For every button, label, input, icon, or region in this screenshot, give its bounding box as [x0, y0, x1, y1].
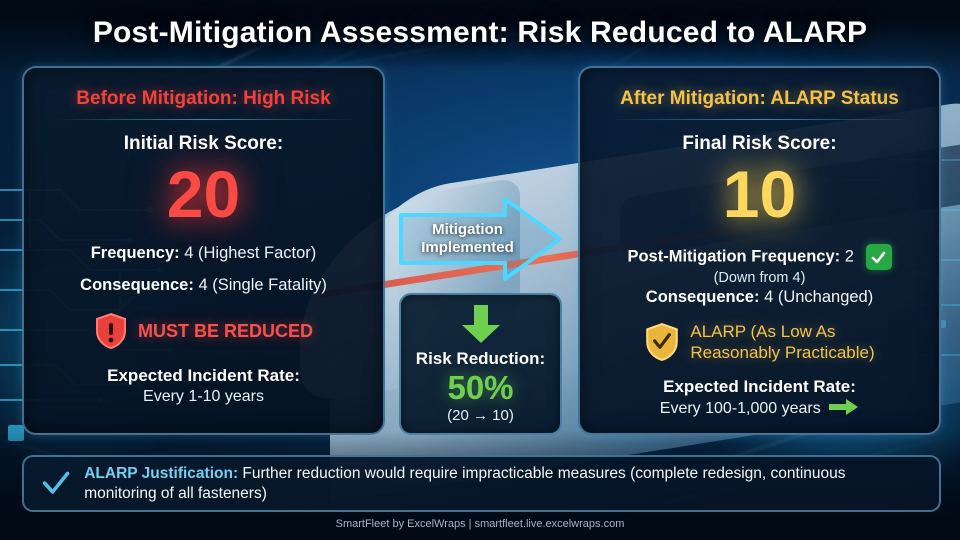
mitigation-arrow: Mitigation Implemented [399, 197, 562, 281]
after-frequency-row: Post-Mitigation Frequency: 2 [594, 244, 925, 270]
before-incident-rate-value: Every 1-10 years [38, 388, 369, 406]
right-arrow-outline-icon [399, 197, 562, 281]
initial-risk-score-label: Initial Risk Score: [38, 133, 369, 155]
after-incident-rate-block: Expected Incident Rate: Every 100-1,000 … [594, 377, 925, 418]
before-frequency-label: Frequency: [91, 244, 180, 262]
after-frequency-label: Post-Mitigation Frequency: [627, 247, 840, 265]
final-risk-score-label: Final Risk Score: [594, 133, 925, 155]
after-incident-rate-value-row: Every 100-1,000 years [594, 399, 925, 418]
alarp-justification-bar: ALARP Justification: Further reduction w… [22, 455, 941, 512]
alarp-status-badge: ALARP (As Low As Reasonably Practicable) [594, 321, 925, 363]
alarp-status-text: ALARP (As Low As Reasonably Practicable) [690, 321, 874, 363]
after-consequence-label: Consequence: [646, 288, 760, 306]
risk-reduction-delta: (20 → 10) [447, 407, 514, 424]
panel-divider [51, 119, 356, 120]
must-be-reduced-badge: MUST BE REDUCED [38, 312, 369, 350]
risk-reduction-percent: 50% [447, 370, 513, 406]
before-consequence-row: Consequence: 4 (Single Fatality) [38, 276, 369, 295]
footer-attribution: SmartFleet by ExcelWraps | smartfleet.li… [0, 518, 960, 530]
panel-divider [607, 119, 912, 120]
risk-reduction-label: Risk Reduction: [416, 349, 545, 369]
alarp-line1: ALARP (As Low As [690, 321, 874, 342]
initial-risk-score-value: 20 [38, 157, 369, 231]
before-consequence-value: 4 (Single Fatality) [198, 276, 326, 294]
alarp-justification-label: ALARP Justification: [84, 465, 238, 482]
before-panel-title: Before Mitigation: High Risk [38, 78, 369, 110]
before-frequency-row: Frequency: 4 (Highest Factor) [38, 244, 369, 263]
alarp-line2: Reasonably Practicable) [690, 342, 874, 363]
after-consequence-value: 4 (Unchanged) [764, 288, 873, 306]
must-be-reduced-text: MUST BE REDUCED [138, 321, 313, 342]
final-risk-score-value: 10 [594, 157, 925, 231]
after-incident-rate-label: Expected Incident Rate: [594, 377, 925, 397]
page-title: Post-Mitigation Assessment: Risk Reduced… [0, 16, 960, 50]
risk-reduction-box: Risk Reduction: 50% (20 → 10) [399, 293, 562, 435]
before-incident-rate-block: Expected Incident Rate: Every 1-10 years [38, 366, 369, 406]
check-icon [42, 469, 70, 499]
after-mitigation-panel: After Mitigation: ALARP Status Final Ris… [578, 66, 941, 435]
shield-check-icon [644, 322, 680, 362]
green-check-badge-icon [866, 244, 892, 270]
before-incident-rate-label: Expected Incident Rate: [38, 366, 369, 386]
before-mitigation-panel: Before Mitigation: High Risk Initial Ris… [22, 66, 385, 435]
before-consequence-label: Consequence: [80, 276, 194, 294]
after-consequence-row: Consequence: 4 (Unchanged) [594, 288, 925, 307]
after-frequency-note: (Down from 4) [594, 270, 925, 286]
alarp-justification-text: ALARP Justification: Further reduction w… [84, 464, 921, 504]
after-panel-title: After Mitigation: ALARP Status [594, 78, 925, 110]
green-right-arrow-icon [829, 399, 859, 415]
shield-alert-icon [94, 312, 128, 350]
down-arrow-icon [459, 303, 503, 345]
after-frequency-value: 2 [845, 247, 854, 265]
before-frequency-value: 4 (Highest Factor) [184, 244, 316, 262]
after-incident-rate-value: Every 100-1,000 years [660, 400, 821, 417]
